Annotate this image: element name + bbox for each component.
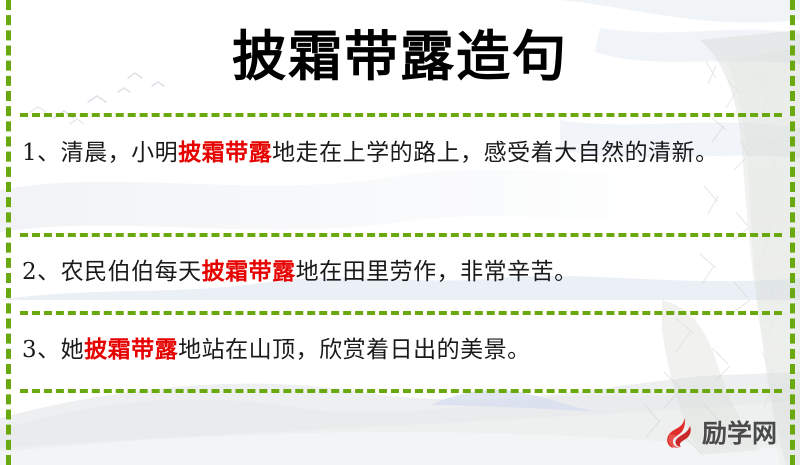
site-watermark: 励学网 (661, 415, 777, 451)
page-title: 披霜带露造句 (0, 24, 800, 89)
idiom-highlight-2: 披霜带露 (202, 258, 296, 285)
sentence-index-3: 3、 (22, 337, 61, 363)
idiom-highlight-3: 披霜带露 (84, 336, 178, 363)
sentence-text-after-3: 地站在山顶，欣赏着日出的美景。 (178, 337, 531, 363)
sentence-index-2: 2、 (22, 259, 61, 285)
sentence-text-before-2: 农民伯伯每天 (61, 259, 202, 285)
divider-1 (20, 233, 782, 237)
watermark-label: 励学网 (702, 421, 777, 446)
divider-2 (20, 311, 782, 315)
sentence-item-2: 2、农民伯伯每天披霜带露地在田里劳作，非常辛苦。 (22, 253, 777, 291)
idiom-highlight-1: 披霜带露 (178, 139, 272, 166)
sentence-text-before-3: 她 (61, 337, 85, 363)
sentence-item-3: 3、她披霜带露地站在山顶，欣赏着日出的美景。 (22, 331, 777, 369)
page-root: 披霜带露造句 1、清晨，小明披霜带露地走在上学的路上，感受着大自然的清新。 2、… (0, 0, 800, 465)
divider-3 (20, 389, 782, 393)
sentence-index-1: 1、 (22, 140, 61, 166)
divider-title (20, 113, 782, 117)
sentence-text-after-2: 地在田里劳作，非常辛苦。 (296, 259, 578, 285)
sentence-text-after-1: 地走在上学的路上，感受着大自然的清新。 (272, 140, 719, 166)
sentence-item-1: 1、清晨，小明披霜带露地走在上学的路上，感受着大自然的清新。 (22, 134, 777, 172)
sentence-text-before-1: 清晨，小明 (61, 140, 179, 166)
flame-swirl-icon (661, 415, 697, 451)
